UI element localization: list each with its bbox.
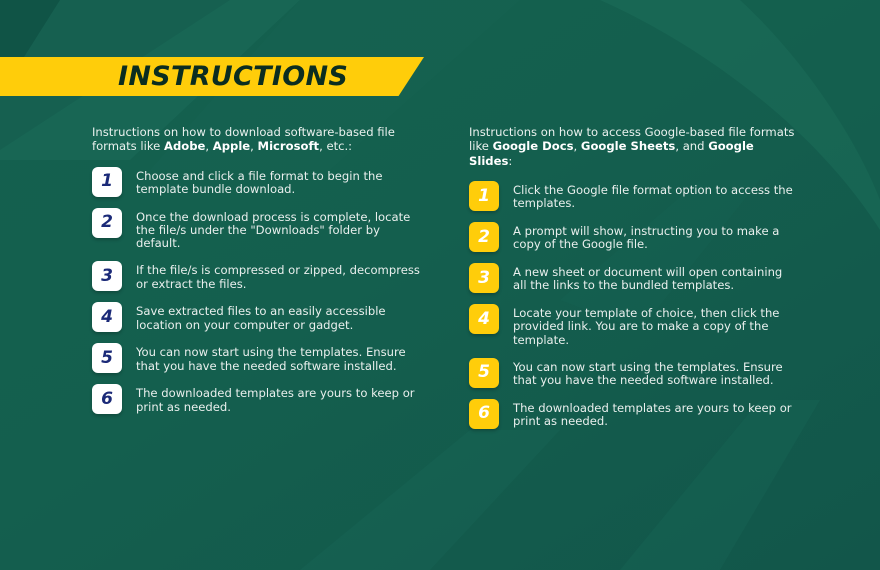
step-description: You can now start using the templates. E… [136,343,422,372]
google-instructions-column: Instructions on how to access Google-bas… [469,125,799,429]
intro-text-run: : [508,154,512,168]
instruction-step: 5You can now start using the templates. … [92,343,422,373]
step-description: Save extracted files to an easily access… [136,302,422,331]
step-description: The downloaded templates are yours to ke… [136,384,422,413]
intro-text-run: , [250,139,257,153]
step-description: Locate your template of choice, then cli… [513,304,799,347]
instruction-step: 6The downloaded templates are yours to k… [92,384,422,414]
instruction-step: 6The downloaded templates are yours to k… [469,399,799,429]
instruction-step: 2A prompt will show, instructing you to … [469,222,799,252]
step-number-badge: 4 [469,304,499,334]
step-number-badge: 6 [92,384,122,414]
instruction-step: 3If the file/s is compressed or zipped, … [92,261,422,291]
instruction-step: 4Save extracted files to an easily acces… [92,302,422,332]
step-number-badge: 2 [92,208,122,238]
intro-keyword: Google Docs [493,139,574,153]
step-description: A prompt will show, instructing you to m… [513,222,799,251]
step-description: You can now start using the templates. E… [513,358,799,387]
intro-keyword: Google Sheets [581,139,675,153]
step-description: If the file/s is compressed or zipped, d… [136,261,422,290]
step-number-badge: 1 [469,181,499,211]
instruction-step: 5You can now start using the templates. … [469,358,799,388]
instruction-step: 4Locate your template of choice, then cl… [469,304,799,347]
google-steps-list: 1Click the Google file format option to … [469,181,799,429]
software-instructions-column: Instructions on how to download software… [92,125,422,414]
step-number-badge: 1 [92,167,122,197]
step-description: Click the Google file format option to a… [513,181,799,210]
step-description: A new sheet or document will open contai… [513,263,799,292]
step-number-badge: 5 [469,358,499,388]
software-intro-text: Instructions on how to download software… [92,125,422,154]
intro-text-run: , and [675,139,708,153]
step-number-badge: 6 [469,399,499,429]
instructions-banner: INSTRUCTIONS [0,57,424,96]
step-number-badge: 3 [469,263,499,293]
step-number-badge: 4 [92,302,122,332]
step-number-badge: 5 [92,343,122,373]
intro-text-run: , etc.: [319,139,352,153]
instruction-step: 3A new sheet or document will open conta… [469,263,799,293]
google-intro-text: Instructions on how to access Google-bas… [469,125,799,168]
intro-keyword: Microsoft [258,139,320,153]
step-description: Choose and click a file format to begin … [136,167,422,196]
software-steps-list: 1Choose and click a file format to begin… [92,167,422,415]
step-description: Once the download process is complete, l… [136,208,422,251]
instruction-step: 1Click the Google file format option to … [469,181,799,211]
page-title: INSTRUCTIONS [118,60,348,91]
instruction-step: 2Once the download process is complete, … [92,208,422,251]
intro-keyword: Apple [213,139,250,153]
step-number-badge: 2 [469,222,499,252]
intro-text-run: , [205,139,212,153]
instruction-step: 1Choose and click a file format to begin… [92,167,422,197]
step-description: The downloaded templates are yours to ke… [513,399,799,428]
intro-text-run: , [574,139,581,153]
step-number-badge: 3 [92,261,122,291]
intro-keyword: Adobe [164,139,205,153]
